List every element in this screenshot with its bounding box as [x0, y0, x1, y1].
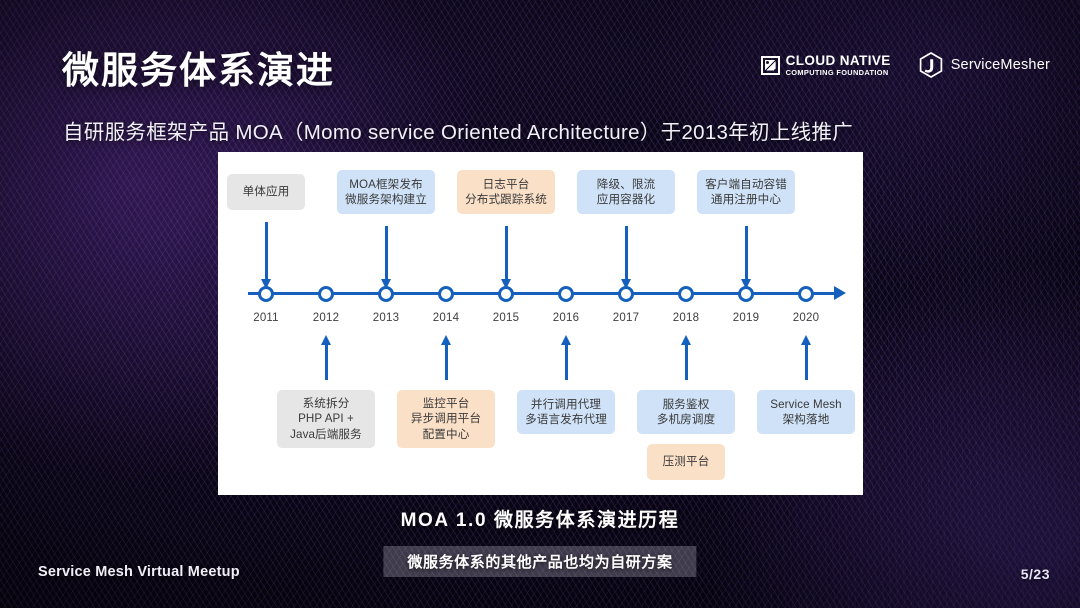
timeline-arrow-up-2018	[685, 344, 688, 380]
timeline-axis-arrowhead-icon	[834, 286, 846, 300]
timeline-year-2017: 2017	[613, 312, 639, 324]
timeline-year-2014: 2014	[433, 312, 459, 324]
timeline-arrow-up-2016	[565, 344, 568, 380]
timeline-panel: 2011201220132014201520162017201820192020…	[218, 152, 863, 495]
chart-caption: MOA 1.0 微服务体系演进历程	[0, 505, 1080, 532]
milestone-bottom-2016-line1: 并行调用代理	[531, 397, 601, 413]
milestone-bottom-2012-line2: PHP API +	[298, 411, 354, 427]
timeline-arrow-down-2017	[625, 226, 628, 280]
footer-page-number: 5/23	[1021, 566, 1050, 582]
slide-canvas: 微服务体系演进 自研服务框架产品 MOA（Momo service Orient…	[0, 0, 1080, 608]
milestone-bottom-2018-line2: 多机房调度	[657, 412, 715, 428]
cncf-logo: CLOUD NATIVE COMPUTING FOUNDATION	[761, 54, 891, 76]
milestone-bottom-2014-line3: 配置中心	[423, 427, 470, 443]
milestone-bottom-2020: Service Mesh架构落地	[757, 390, 855, 434]
footer-event-name: Service Mesh Virtual Meetup	[38, 564, 240, 580]
timeline-year-2012: 2012	[313, 312, 339, 324]
cncf-logo-line1: CLOUD NATIVE	[786, 54, 891, 68]
milestone-bottom-2020-line2: 架构落地	[783, 412, 830, 428]
timeline-year-2015: 2015	[493, 312, 519, 324]
page-subtitle: 自研服务框架产品 MOA（Momo service Oriented Archi…	[63, 115, 853, 145]
timeline-year-2020: 2020	[793, 312, 819, 324]
timeline-node-2018	[678, 286, 694, 302]
timeline-arrow-up-2020	[805, 344, 808, 380]
servicemesher-hexagon-icon	[919, 52, 943, 78]
servicemesher-logo: ServiceMesher	[919, 52, 1050, 78]
milestone-top-2017-line1: 降级、限流	[597, 177, 655, 193]
milestone-bottom-2016: 并行调用代理多语言发布代理	[517, 390, 615, 434]
milestone-bottom-2014-line2: 异步调用平台	[411, 411, 481, 427]
milestone-top-2011: 单体应用	[227, 174, 305, 210]
milestone-top-2017: 降级、限流应用容器化	[577, 170, 675, 214]
timeline-node-2012	[318, 286, 334, 302]
timeline-arrow-up-2012	[325, 344, 328, 380]
milestone-bottom-2014: 监控平台异步调用平台配置中心	[397, 390, 495, 448]
timeline-year-2019: 2019	[733, 312, 759, 324]
timeline-arrow-down-2013	[385, 226, 388, 280]
milestone-top-2013-line2: 微服务架构建立	[345, 192, 427, 208]
timeline-year-2016: 2016	[553, 312, 579, 324]
milestone-top-2019-line1: 客户端自动容错	[705, 177, 787, 193]
milestone-top-2019-line2: 通用注册中心	[711, 192, 781, 208]
milestone-bottom-2018: 服务鉴权多机房调度	[637, 390, 735, 434]
milestone-bottom-2012-line1: 系统拆分	[303, 396, 350, 412]
milestone-bottom-2012-line3: Java后端服务	[290, 427, 362, 443]
timeline-node-2014	[438, 286, 454, 302]
milestone-bottom-extra-2018-line1: 压测平台	[663, 454, 710, 470]
timeline-arrow-down-2019	[745, 226, 748, 280]
milestone-top-2019: 客户端自动容错通用注册中心	[697, 170, 795, 214]
cncf-logo-text: CLOUD NATIVE COMPUTING FOUNDATION	[786, 54, 891, 76]
page-title: 微服务体系演进	[62, 40, 335, 94]
highlight-banner: 微服务体系的其他产品也均为自研方案	[383, 546, 696, 577]
cncf-logo-line2: COMPUTING FOUNDATION	[786, 69, 891, 76]
servicemesher-logo-text: ServiceMesher	[951, 57, 1050, 73]
timeline-arrow-down-2015	[505, 226, 508, 280]
milestone-bottom-extra-2018: 压测平台	[647, 444, 725, 480]
cncf-logo-icon	[761, 56, 780, 75]
milestone-bottom-2012: 系统拆分PHP API +Java后端服务	[277, 390, 375, 448]
milestone-top-2013-line1: MOA框架发布	[349, 177, 422, 193]
milestone-top-2011-line1: 单体应用	[243, 184, 290, 200]
timeline-node-2016	[558, 286, 574, 302]
milestone-bottom-2020-line1: Service Mesh	[770, 397, 841, 413]
milestone-top-2015-line1: 日志平台	[483, 177, 530, 193]
timeline-arrow-up-2014	[445, 344, 448, 380]
timeline-year-2013: 2013	[373, 312, 399, 324]
milestone-top-2015: 日志平台分布式跟踪系统	[457, 170, 555, 214]
milestone-top-2017-line2: 应用容器化	[597, 192, 655, 208]
milestone-bottom-2016-line2: 多语言发布代理	[525, 412, 607, 428]
timeline-year-2018: 2018	[673, 312, 699, 324]
timeline-arrow-down-2011	[265, 222, 268, 280]
milestone-top-2015-line2: 分布式跟踪系统	[465, 192, 547, 208]
milestone-bottom-2014-line1: 监控平台	[423, 396, 470, 412]
milestone-bottom-2018-line1: 服务鉴权	[663, 397, 710, 413]
timeline-year-2011: 2011	[253, 312, 279, 324]
milestone-top-2013: MOA框架发布微服务架构建立	[337, 170, 435, 214]
logo-group: CLOUD NATIVE COMPUTING FOUNDATION Servic…	[761, 52, 1050, 78]
timeline-node-2020	[798, 286, 814, 302]
